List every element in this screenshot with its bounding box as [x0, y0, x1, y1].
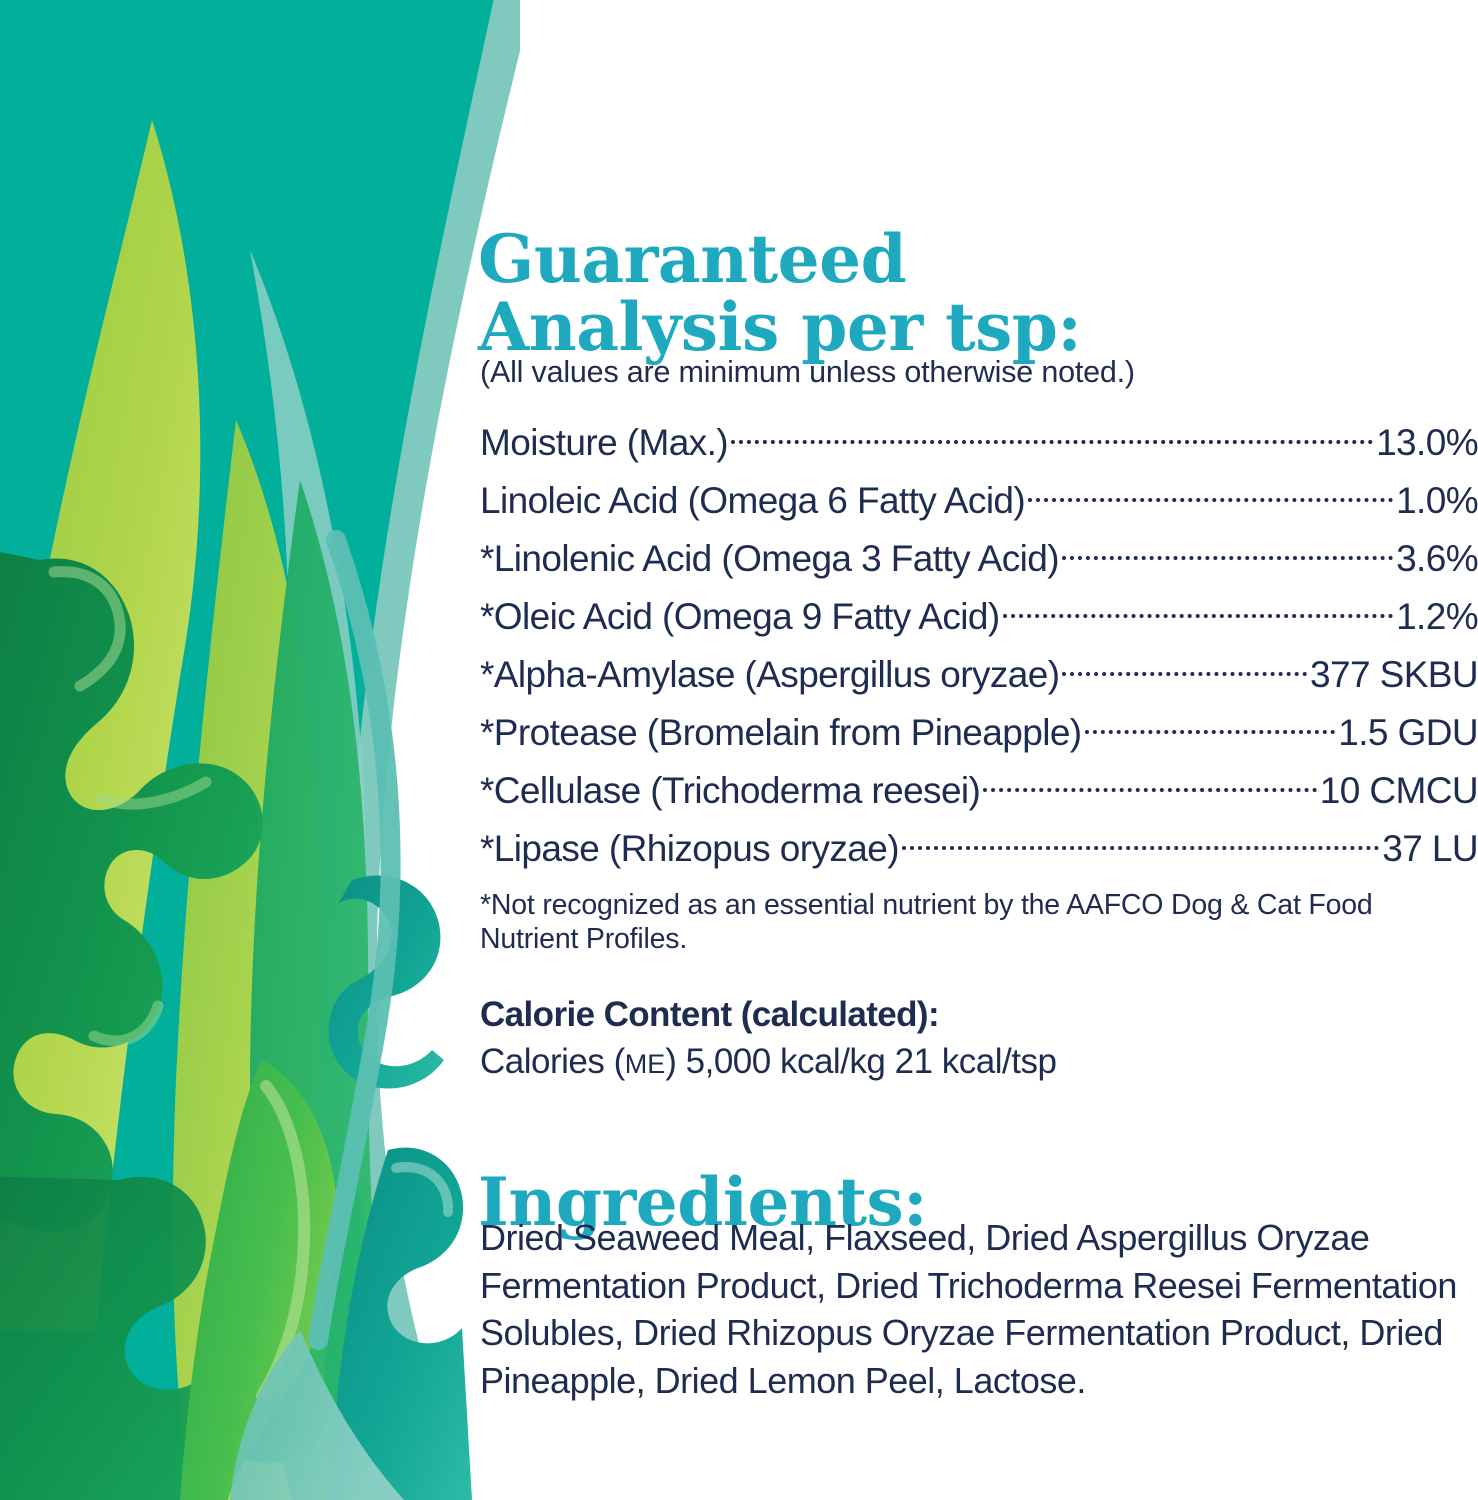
nutrient-value: 1.0% — [1396, 480, 1478, 522]
bright-green-leaf — [180, 1060, 337, 1500]
nutrient-row: *Alpha-Amylase (Aspergillus oryzae)377 S… — [480, 650, 1478, 708]
ga-title-line-1: Guaranteed — [478, 226, 1438, 293]
kelp-highlight-2 — [100, 782, 206, 804]
calories-prefix: Calories ( — [480, 1042, 625, 1081]
nutrient-row: *Linolenic Acid (Omega 3 Fatty Acid)3.6% — [480, 534, 1478, 592]
nutrient-value: 10 CMCU — [1320, 770, 1478, 812]
nutrient-row: *Oleic Acid (Omega 9 Fatty Acid)1.2% — [480, 592, 1478, 650]
nutrient-value: 37 LU — [1382, 828, 1478, 870]
calorie-content-value: Calories (ME) 5,000 kcal/kg 21 kcal/tsp — [480, 1042, 1056, 1082]
nutrient-label: *Oleic Acid (Omega 9 Fatty Acid) — [480, 596, 1000, 638]
dotted-leader — [983, 766, 1317, 803]
pale-teal-blade — [186, 250, 366, 1500]
product-label-panel: Guaranteed Analysis per tsp: (All values… — [0, 0, 1478, 1500]
teal-kelp-hook — [328, 875, 444, 1088]
nutrient-label: *Protease (Bromelain from Pineapple) — [480, 712, 1082, 754]
label-content: Guaranteed Analysis per tsp: (All values… — [478, 0, 1478, 1500]
nutrient-label: *Linolenic Acid (Omega 3 Fatty Acid) — [480, 538, 1059, 580]
light-green-blade-mid — [173, 420, 330, 1500]
ga-title-line-2: Analysis per tsp: — [478, 294, 1438, 361]
nutrient-value: 1.2% — [1396, 596, 1478, 638]
nutrient-label: *Lipase (Rhizopus oryzae) — [480, 828, 899, 870]
dark-green-kelp — [0, 548, 263, 1232]
nutrient-rows: Moisture (Max.)13.0%Linoleic Acid (Omega… — [480, 418, 1478, 882]
dark-green-kelp-lower — [0, 1176, 329, 1500]
kelp-highlight-1 — [54, 572, 120, 686]
nutrient-value: 13.0% — [1376, 422, 1478, 464]
dotted-leader — [902, 824, 1379, 861]
calories-suffix: ) 5,000 kcal/kg 21 kcal/tsp — [665, 1042, 1056, 1081]
nutrient-label: *Alpha-Amylase (Aspergillus oryzae) — [480, 654, 1059, 696]
teal-kelp-branch — [330, 1148, 472, 1500]
guaranteed-analysis-title: Guaranteed Analysis per tsp: — [478, 226, 1438, 361]
dotted-leader — [731, 418, 1373, 455]
guaranteed-analysis-subtitle: (All values are minimum unless otherwise… — [480, 355, 1135, 390]
dotted-leader — [1085, 708, 1336, 745]
seaweed-artwork — [0, 0, 520, 1500]
nutrient-label: Linoleic Acid (Omega 6 Fatty Acid) — [480, 480, 1025, 522]
mid-green-sheet — [250, 480, 400, 1500]
nutrient-value: 3.6% — [1396, 538, 1478, 580]
kelp-highlight-3 — [94, 1006, 158, 1041]
dotted-leader — [1062, 650, 1307, 687]
teal-stem-curve — [318, 540, 391, 1340]
dotted-leader — [1062, 534, 1393, 571]
nutrient-row: *Protease (Bromelain from Pineapple)1.5 … — [480, 708, 1478, 766]
nutrient-value: 377 SKBU — [1310, 654, 1478, 696]
aafco-footnote: *Not recognized as an essential nutrient… — [480, 888, 1444, 957]
nutrient-row: *Cellulase (Trichoderma reesei)10 CMCU — [480, 766, 1478, 824]
nutrient-value: 1.5 GDU — [1338, 712, 1478, 754]
nutrient-label: *Cellulase (Trichoderma reesei) — [480, 770, 980, 812]
nutrient-label: Moisture (Max.) — [480, 422, 728, 464]
soft-teal-swash — [230, 1330, 404, 1500]
calorie-content-heading: Calorie Content (calculated): — [480, 995, 939, 1035]
bright-leaf-highlight — [262, 1086, 304, 1396]
light-green-blade-upper — [0, 120, 200, 1330]
dotted-leader — [1028, 476, 1393, 513]
nutrient-row: Linoleic Acid (Omega 6 Fatty Acid)1.0% — [480, 476, 1478, 534]
teal-kelp-highlight — [396, 1167, 448, 1212]
nutrient-row: Moisture (Max.)13.0% — [480, 418, 1478, 476]
teal-background-shape — [0, 0, 520, 1500]
nutrient-row: *Lipase (Rhizopus oryzae)37 LU — [480, 824, 1478, 882]
ingredients-body: Dried Seaweed Meal, Flaxseed, Dried Aspe… — [480, 1214, 1466, 1404]
me-abbreviation: ME — [625, 1049, 666, 1079]
dotted-leader — [1003, 592, 1394, 629]
